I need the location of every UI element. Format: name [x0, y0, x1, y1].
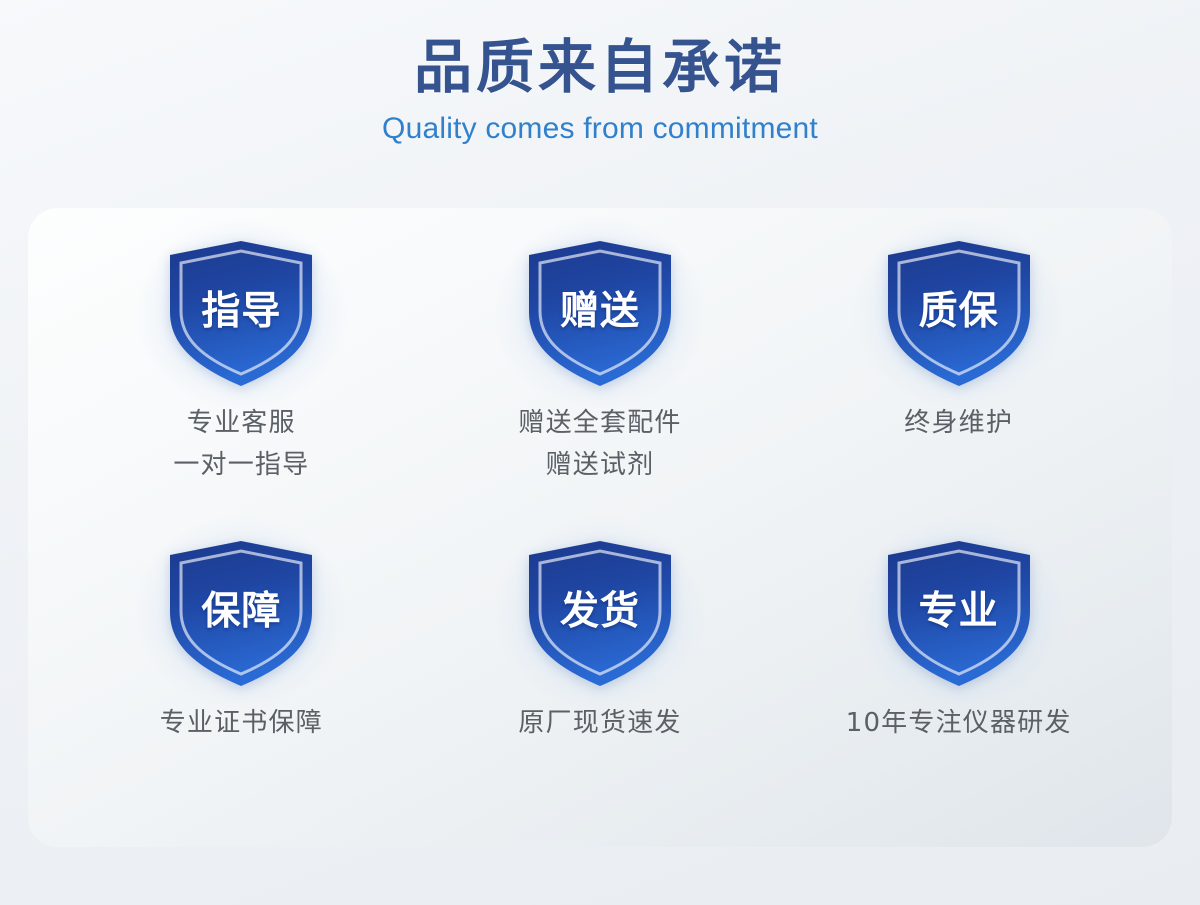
caption-line: 专业客服 [173, 402, 309, 444]
shield-icon [166, 538, 316, 688]
caption-line: 专业证书保障 [160, 702, 323, 744]
shield-icon [884, 238, 1034, 388]
shield-badge[interactable]: 赠送 [525, 238, 675, 388]
caption-line: 一对一指导 [173, 444, 309, 486]
item-caption: 赠送全套配件赠送试剂 [518, 402, 681, 486]
caption-line: 10年专注仪器研发 [846, 702, 1072, 744]
item-caption: 专业证书保障 [160, 702, 323, 744]
guarantee-item-1[interactable]: 指导 专业客服一对一指导 [62, 238, 421, 530]
guarantee-grid: 指导 专业客服一对一指导 赠送 赠送全套配件赠送试剂 [28, 208, 1172, 847]
caption-line: 赠送试剂 [518, 444, 681, 486]
shield-icon [525, 538, 675, 688]
shield-icon [884, 538, 1034, 688]
guarantee-item-2[interactable]: 赠送 赠送全套配件赠送试剂 [421, 238, 780, 530]
guarantee-item-4[interactable]: 保障 专业证书保障 [62, 530, 421, 822]
item-caption: 终身维护 [904, 402, 1013, 444]
caption-line: 终身维护 [904, 402, 1013, 444]
shield-badge[interactable]: 质保 [884, 238, 1034, 388]
guarantee-card: 指导 专业客服一对一指导 赠送 赠送全套配件赠送试剂 [28, 208, 1172, 847]
shield-badge[interactable]: 发货 [525, 538, 675, 688]
page-subtitle: Quality comes from commitment [0, 112, 1200, 145]
caption-line: 原厂现货速发 [518, 702, 681, 744]
shield-icon [525, 238, 675, 388]
guarantee-item-6[interactable]: 专业 10年专注仪器研发 [779, 530, 1138, 822]
item-caption: 原厂现货速发 [518, 702, 681, 744]
caption-line: 赠送全套配件 [518, 402, 681, 444]
shield-icon [166, 238, 316, 388]
item-caption: 10年专注仪器研发 [846, 702, 1072, 744]
item-caption: 专业客服一对一指导 [173, 402, 309, 486]
shield-badge[interactable]: 指导 [166, 238, 316, 388]
guarantee-item-5[interactable]: 发货 原厂现货速发 [421, 530, 780, 822]
page-title: 品质来自承诺 [0, 34, 1200, 102]
guarantee-item-3[interactable]: 质保 终身维护 [779, 238, 1138, 530]
shield-badge[interactable]: 保障 [166, 538, 316, 688]
shield-badge[interactable]: 专业 [884, 538, 1034, 688]
page-header: 品质来自承诺 Quality comes from commitment [0, 0, 1200, 145]
